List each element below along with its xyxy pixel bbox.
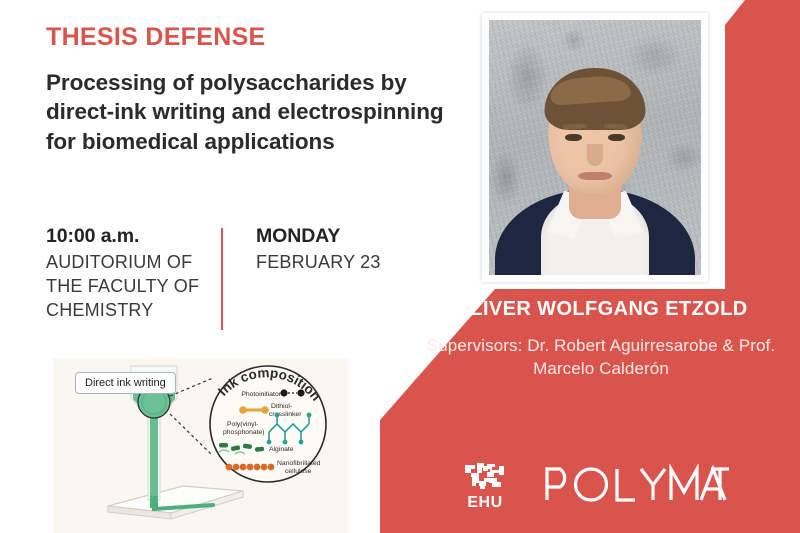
svg-text:crosslinker: crosslinker bbox=[269, 411, 302, 418]
page-title: Processing of polysaccharides by direct-… bbox=[46, 68, 466, 157]
ehu-lauburu-icon bbox=[463, 462, 507, 493]
speaker-name: OLIVER WOLFGANG ETZOLD bbox=[410, 297, 792, 323]
supervisors-line: Supervisors: Dr. Robert Aguirresarobe & … bbox=[410, 335, 792, 381]
nozzle-tip bbox=[150, 496, 158, 508]
event-day: MONDAY bbox=[256, 224, 446, 248]
svg-text:Poly(vinyl-: Poly(vinyl- bbox=[227, 421, 258, 428]
photo-eye-left bbox=[565, 134, 582, 141]
speaker-photo-frame bbox=[482, 13, 708, 282]
event-venue: AUDITORIUM OF THE FACULTY OF CHEMISTRY bbox=[46, 251, 221, 322]
time-venue-column: 10:00 a.m. AUDITORIUM OF THE FACULTY OF … bbox=[46, 224, 221, 323]
headline-block: THESIS DEFENSE Processing of polysacchar… bbox=[46, 24, 476, 157]
ehu-logo: EHU bbox=[455, 462, 515, 511]
event-details: 10:00 a.m. AUDITORIUM OF THE FACULTY OF … bbox=[46, 224, 466, 330]
date-column: MONDAY FEBRUARY 23 bbox=[223, 224, 446, 275]
photo-nose bbox=[587, 144, 603, 166]
event-date: FEBRUARY 23 bbox=[256, 251, 446, 275]
substrate-plate bbox=[108, 486, 243, 519]
photo-eye-right bbox=[608, 134, 625, 141]
direct-ink-writing-figure: Ink composition Photoinitiator Dithiol- … bbox=[53, 358, 348, 533]
figure-caption: Direct ink writing bbox=[75, 372, 176, 394]
polymat-wordmark-icon bbox=[543, 464, 729, 504]
svg-text:Photoinitiator: Photoinitiator bbox=[241, 391, 281, 398]
speaker-block: OLIVER WOLFGANG ETZOLD Supervisors: Dr. … bbox=[410, 297, 792, 380]
svg-text:cellulose: cellulose bbox=[285, 468, 312, 475]
event-time: 10:00 a.m. bbox=[46, 224, 221, 248]
polymat-logo bbox=[543, 464, 729, 509]
kicker-thesis-defense: THESIS DEFENSE bbox=[46, 24, 476, 52]
logo-row: EHU bbox=[455, 455, 755, 517]
ehu-label: EHU bbox=[467, 495, 502, 511]
speaker-photo bbox=[489, 20, 701, 275]
thesis-defense-poster: THESIS DEFENSE Processing of polysacchar… bbox=[0, 0, 800, 533]
svg-text:phosphonate): phosphonate) bbox=[223, 429, 265, 436]
photo-mouth bbox=[578, 172, 612, 180]
svg-text:Nanofibrillated: Nanofibrillated bbox=[277, 460, 321, 467]
svg-text:Alginate: Alginate bbox=[269, 446, 294, 453]
svg-text:Dithiol-: Dithiol- bbox=[271, 403, 292, 410]
